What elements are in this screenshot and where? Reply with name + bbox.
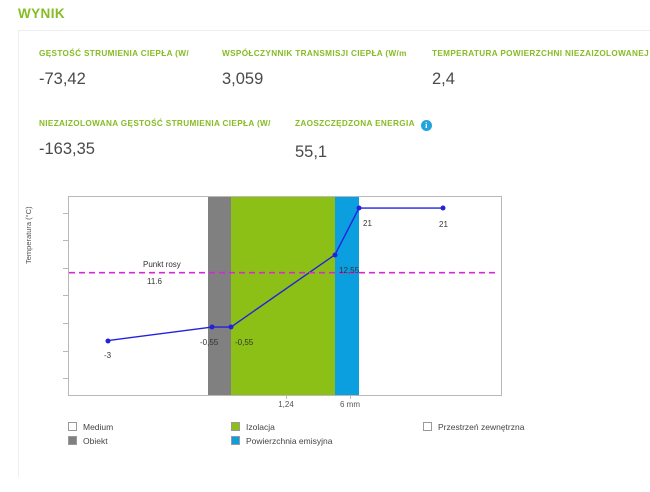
legend-swatch (231, 422, 240, 431)
x-tick-label: 6 mm (340, 400, 360, 409)
plot-area: -3-0,55-0,5512,552121 Punkt rosy 11.6 (68, 196, 502, 396)
data-point[interactable] (441, 206, 446, 211)
result-panel: WYNIK GĘSTOŚĆ STRUMIENIA CIEPŁA (W/ -73,… (0, 0, 650, 492)
legend-swatch (68, 422, 77, 431)
temperature-profile-chart: Temperatura (°C) 20151050-5-10 1,246 mm … (30, 190, 620, 455)
legend-label: Izolacja (246, 422, 275, 432)
stat-value: 55,1 (295, 143, 432, 162)
legend-label: Przestrzeń zewnętrzna (438, 422, 524, 432)
data-point-label: -0,55 (200, 338, 218, 347)
stat-saved-energy: ZAOSZCZĘDZONA ENERGIAi 55,1 (295, 119, 432, 162)
stat-value: 3,059 (222, 70, 407, 89)
legend-item[interactable]: Izolacja (231, 422, 275, 432)
data-point-label: -3 (104, 351, 111, 360)
data-point[interactable] (333, 252, 338, 257)
series-line (108, 208, 443, 341)
legend-swatch (423, 422, 432, 431)
stat-heat-transfer-coefficient: WSPÓŁCZYNNIK TRANSMISJI CIEPŁA (W/m 3,05… (222, 49, 407, 89)
stat-label: NIEZAIZOLOWANA GĘSTOŚĆ STRUMIENIA CIEPŁA… (39, 119, 271, 128)
page-title: WYNIK (18, 6, 65, 21)
legend-label: Obiekt (83, 436, 108, 446)
legend-item[interactable]: Obiekt (68, 436, 108, 446)
stat-label: TEMPERATURA POWIERZCHNI NIEZAIZOLOWANEJ (432, 49, 649, 58)
stat-value: -73,42 (39, 70, 189, 89)
stat-label: ZAOSZCZĘDZONA ENERGIAi (295, 119, 432, 131)
legend-label: Powierzchnia emisyjna (246, 436, 332, 446)
data-point[interactable] (229, 325, 234, 330)
y-axis-title: Temperatura (°C) (24, 206, 33, 264)
legend-item[interactable]: Przestrzeń zewnętrzna (423, 422, 524, 432)
x-tick-label: 1,24 (278, 400, 294, 409)
legend-item[interactable]: Powierzchnia emisyjna (231, 436, 332, 446)
legend-swatch (68, 436, 77, 445)
stat-uninsulated-surface-temperature: TEMPERATURA POWIERZCHNI NIEZAIZOLOWANEJ … (432, 49, 649, 89)
legend-swatch (231, 436, 240, 445)
stat-label: WSPÓŁCZYNNIK TRANSMISJI CIEPŁA (W/m (222, 49, 407, 58)
dew-point-value: 11.6 (147, 277, 162, 286)
data-point-label: 21 (439, 220, 448, 229)
dew-point-name: Punkt rosy (143, 260, 181, 269)
data-point-label: 12,55 (339, 266, 359, 275)
data-point-label: 21 (363, 219, 372, 228)
legend-label: Medium (83, 422, 113, 432)
series-lines (69, 197, 499, 393)
stat-label-text: ZAOSZCZĘDZONA ENERGIA (295, 119, 415, 128)
data-point[interactable] (210, 325, 215, 330)
data-point-label: -0,55 (235, 338, 253, 347)
info-icon[interactable]: i (421, 120, 432, 131)
stat-value: 2,4 (432, 70, 649, 89)
stat-label: GĘSTOŚĆ STRUMIENIA CIEPŁA (W/ (39, 49, 189, 58)
legend-item[interactable]: Medium (68, 422, 113, 432)
stat-heat-flux-density: GĘSTOŚĆ STRUMIENIA CIEPŁA (W/ -73,42 (39, 49, 189, 89)
data-point[interactable] (357, 206, 362, 211)
data-point[interactable] (106, 338, 111, 343)
stat-uninsulated-heat-flux-density: NIEZAIZOLOWANA GĘSTOŚĆ STRUMIENIA CIEPŁA… (39, 119, 271, 159)
stat-value: -163,35 (39, 140, 271, 159)
